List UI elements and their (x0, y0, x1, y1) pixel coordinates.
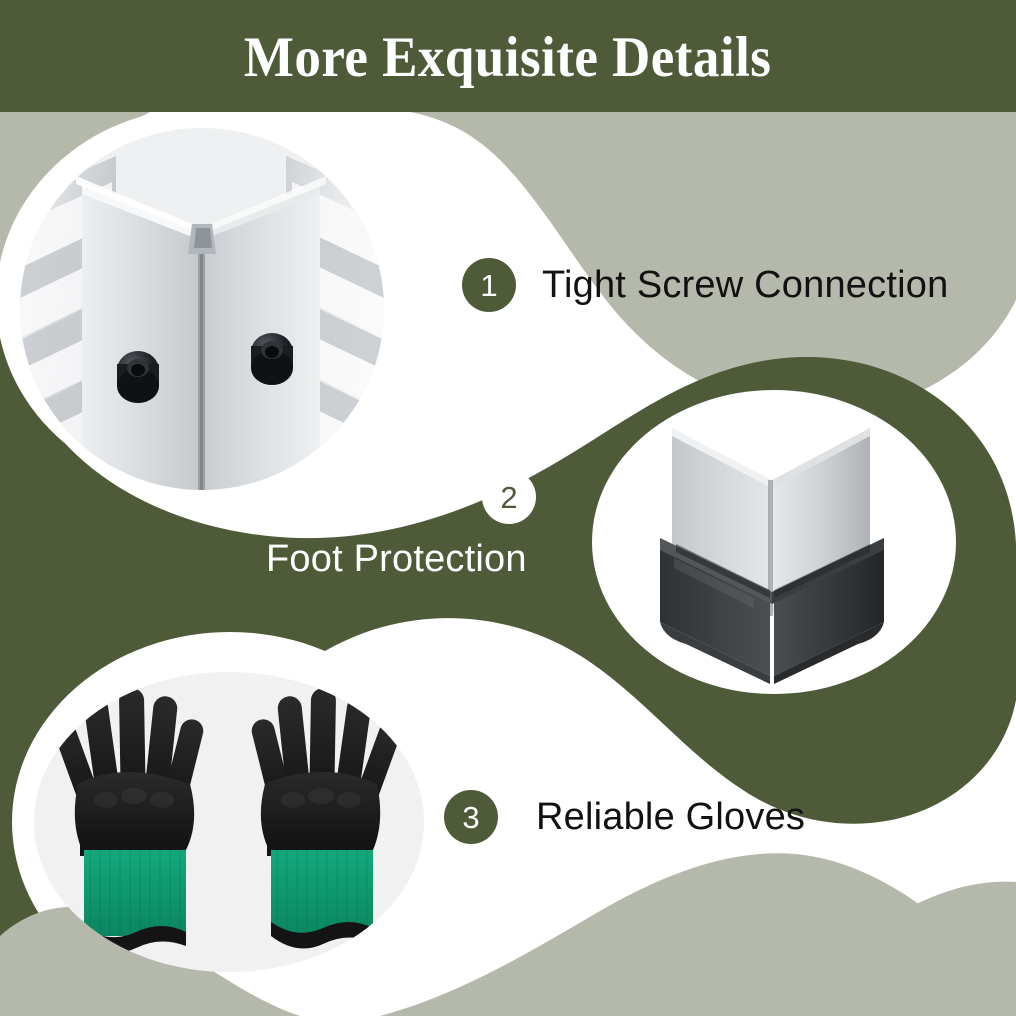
feature-row-2: 2 Foot Protection (266, 470, 536, 581)
sage-shape-bottom-sweep (380, 853, 1016, 1016)
screw-corner-photo (20, 128, 384, 490)
feature-row-3: 3 Reliable Gloves (444, 790, 805, 844)
feature-badge-2: 2 (482, 470, 536, 524)
gloves-photo (34, 672, 424, 972)
feature-label-3: Reliable Gloves (536, 796, 805, 839)
feature-label-1: Tight Screw Connection (542, 264, 948, 307)
infographic-page: More Exquisite Details (0, 0, 1016, 1016)
page-header: More Exquisite Details (0, 0, 1016, 112)
feature-row-1: 1 Tight Screw Connection (462, 258, 948, 312)
screw-top-right (251, 333, 293, 385)
feature-badge-3: 3 (444, 790, 498, 844)
page-title: More Exquisite Details (244, 29, 772, 86)
feature-label-2: Foot Protection (266, 538, 527, 581)
screw-top-left (117, 351, 159, 403)
feature-badge-1: 1 (462, 258, 516, 312)
foot-protection-photo (604, 392, 940, 692)
